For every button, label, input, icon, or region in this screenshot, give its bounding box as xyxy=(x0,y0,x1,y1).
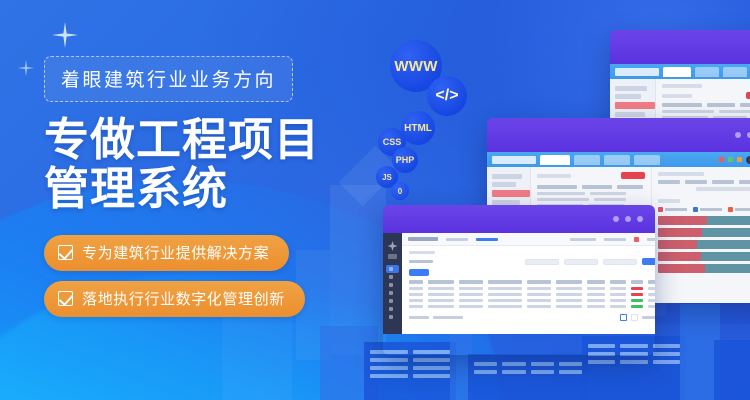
sidebar-item[interactable] xyxy=(386,265,399,273)
bubble-php: PHP xyxy=(392,147,418,173)
mockup-tab xyxy=(663,67,691,77)
tagline-text: 着眼建筑行业业务方向 xyxy=(61,65,276,92)
notification-icon[interactable] xyxy=(719,157,724,162)
mockup-table xyxy=(409,280,655,308)
feature-badge-label: 专为建筑行业提供解决方案 xyxy=(82,242,269,263)
mockup-tab xyxy=(695,67,719,77)
checkbox-checked-icon xyxy=(58,245,73,260)
mockup-tab xyxy=(634,155,660,165)
chart-bar xyxy=(658,240,750,249)
mockup-logo xyxy=(492,156,536,164)
mockup-menu-item[interactable] xyxy=(604,238,626,241)
pagination-page[interactable] xyxy=(620,314,627,321)
table-row[interactable] xyxy=(409,305,655,308)
sidebar-item[interactable] xyxy=(386,281,399,289)
mockup-tab xyxy=(723,67,747,77)
mockup-app-name xyxy=(408,237,438,241)
checkbox-checked-icon xyxy=(58,291,73,306)
window-dot xyxy=(613,216,619,222)
mockup-filter-input[interactable] xyxy=(525,259,559,265)
chart-legend xyxy=(658,207,750,212)
chart-bar xyxy=(658,228,750,237)
sparkle-icon xyxy=(52,22,78,48)
notification-icon[interactable] xyxy=(634,237,639,242)
mockup-tab xyxy=(540,155,570,165)
mockup-add-button[interactable] xyxy=(409,269,429,276)
banner-content: 着眼建筑行业业务方向 专做工程项目 管理系统 专为建筑行业提供解决方案 落地执行… xyxy=(44,56,344,317)
alert-icon[interactable] xyxy=(737,157,742,162)
sidebar-item[interactable] xyxy=(386,289,399,297)
avatar[interactable] xyxy=(746,156,750,164)
bubble-code: </> xyxy=(427,76,467,116)
bubble-html: HTML xyxy=(401,111,435,145)
compass-icon xyxy=(388,241,398,251)
window-dot xyxy=(637,216,643,222)
bubble-zero: 0 xyxy=(391,182,409,200)
window-dot xyxy=(625,216,631,222)
sidebar-item[interactable] xyxy=(386,273,399,281)
table-row[interactable] xyxy=(409,293,655,296)
mockup-body xyxy=(383,233,655,334)
mockup-user-label xyxy=(647,238,655,241)
mockup-logo xyxy=(615,68,659,76)
mockup-action-button[interactable] xyxy=(621,172,645,179)
mockup-filter-input[interactable] xyxy=(564,259,598,265)
mockup-tab xyxy=(574,155,600,165)
table-row[interactable] xyxy=(409,299,655,302)
mockup-sidebar-dark xyxy=(383,233,402,334)
mockup-titlebar xyxy=(487,118,750,152)
mockup-menu-item[interactable] xyxy=(446,238,468,241)
mockup-filter-input[interactable] xyxy=(603,259,637,265)
mockup-main xyxy=(402,233,655,334)
mockup-browser-chrome xyxy=(610,64,750,79)
horizontal-bar-chart xyxy=(658,216,750,273)
mockup-titlebar xyxy=(383,205,655,233)
sidebar-item[interactable] xyxy=(386,297,399,305)
mockup-action-button[interactable] xyxy=(746,92,750,99)
chart-bar xyxy=(658,264,750,273)
tagline-box: 着眼建筑行业业务方向 xyxy=(44,56,293,102)
feature-badge[interactable]: 专为建筑行业提供解决方案 xyxy=(44,235,289,271)
chart-bar xyxy=(658,216,750,225)
mockup-titlebar xyxy=(610,30,750,64)
feature-badge-list: 专为建筑行业提供解决方案 落地执行行业数字化管理创新 xyxy=(44,235,344,317)
sidebar-item[interactable] xyxy=(386,313,399,321)
sparkle-icon xyxy=(18,60,34,76)
pagination-page[interactable] xyxy=(631,314,638,321)
title-line-2: 管理系统 xyxy=(44,165,344,214)
page-title: 专做工程项目 管理系统 xyxy=(44,116,344,213)
marketing-banner: 着眼建筑行业业务方向 专做工程项目 管理系统 专为建筑行业提供解决方案 落地执行… xyxy=(0,0,750,400)
title-line-1: 专做工程项目 xyxy=(44,116,344,165)
mockup-menu-item[interactable] xyxy=(570,238,596,241)
feature-badge-label: 落地执行行业数字化管理创新 xyxy=(82,288,285,309)
mockup-menu-item-active[interactable] xyxy=(476,238,498,241)
mockup-search-button[interactable] xyxy=(642,258,655,265)
mockup-chart-panel xyxy=(651,167,750,303)
window-dot xyxy=(735,132,741,138)
chart-bar xyxy=(658,252,750,261)
mockup-tab xyxy=(604,155,630,165)
feature-badge[interactable]: 落地执行行业数字化管理创新 xyxy=(44,281,305,317)
status-icon[interactable] xyxy=(728,157,733,162)
mockup-browser-chrome xyxy=(487,152,750,167)
dashboard-mockup-front xyxy=(383,205,655,355)
table-row[interactable] xyxy=(409,287,655,290)
sidebar-item[interactable] xyxy=(386,305,399,313)
